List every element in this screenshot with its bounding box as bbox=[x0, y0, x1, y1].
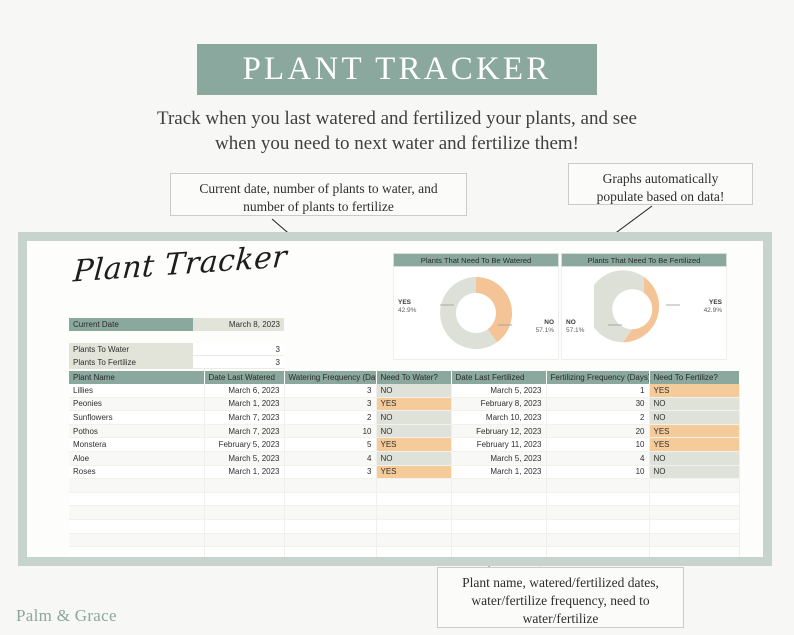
subtitle-line-1: Track when you last watered and fertiliz… bbox=[117, 106, 677, 131]
cell-need-to-fertilize[interactable]: NO bbox=[649, 411, 739, 425]
cell-empty[interactable] bbox=[69, 479, 204, 493]
cell-empty[interactable] bbox=[204, 479, 284, 493]
cell-date-last-watered[interactable]: March 1, 2023 bbox=[204, 397, 284, 411]
cell-watering-frequency[interactable]: 5 bbox=[284, 438, 376, 452]
cell-need-to-water[interactable]: NO bbox=[376, 411, 451, 425]
cell-empty[interactable] bbox=[451, 506, 546, 520]
cell-watering-frequency[interactable]: 3 bbox=[284, 384, 376, 397]
brand-logo: Palm & Grace bbox=[16, 606, 117, 626]
table-row-empty[interactable] bbox=[69, 547, 739, 557]
cell-date-last-fertilized[interactable]: March 1, 2023 bbox=[451, 465, 546, 479]
chart-body: YES42.9% NO57.1% bbox=[561, 267, 727, 360]
spreadsheet-frame: Plant Tracker Current Date March 8, 2023… bbox=[18, 232, 772, 566]
cell-empty[interactable] bbox=[284, 492, 376, 506]
chart-label-yes: YES42.9% bbox=[704, 299, 722, 315]
cell-date-last-fertilized[interactable]: February 12, 2023 bbox=[451, 424, 546, 438]
cell-empty[interactable] bbox=[204, 519, 284, 533]
summary-label: Plants To Water bbox=[69, 343, 193, 356]
cell-need-to-fertilize[interactable]: NO bbox=[649, 451, 739, 465]
cell-empty[interactable] bbox=[376, 519, 451, 533]
cell-fertilizing-frequency[interactable]: 30 bbox=[546, 397, 649, 411]
cell-empty[interactable] bbox=[376, 533, 451, 547]
chart-title: Plants That Need To Be Fertilized bbox=[561, 253, 727, 267]
cell-plant-name[interactable]: Lillies bbox=[69, 384, 204, 397]
summary-row-current-date[interactable]: Current Date March 8, 2023 bbox=[69, 318, 284, 331]
summary-row-plants-to-water[interactable]: Plants To Water 3 bbox=[69, 343, 284, 356]
column-header-date-last-watered[interactable]: Date Last Watered bbox=[204, 371, 284, 384]
cell-empty[interactable] bbox=[284, 533, 376, 547]
cell-need-to-water[interactable]: NO bbox=[376, 451, 451, 465]
cell-date-last-watered[interactable]: March 7, 2023 bbox=[204, 411, 284, 425]
cell-watering-frequency[interactable]: 3 bbox=[284, 465, 376, 479]
cell-need-to-fertilize[interactable]: NO bbox=[649, 465, 739, 479]
cell-empty[interactable] bbox=[546, 479, 649, 493]
column-header-date-last-fertilized[interactable]: Date Last Fertilized bbox=[451, 371, 546, 384]
cell-empty[interactable] bbox=[204, 547, 284, 557]
cell-need-to-fertilize[interactable]: YES bbox=[649, 384, 739, 397]
cell-empty[interactable] bbox=[546, 519, 649, 533]
cell-empty[interactable] bbox=[69, 492, 204, 506]
table-header-row: Plant Name Date Last Watered Watering Fr… bbox=[69, 371, 739, 384]
cell-empty[interactable] bbox=[376, 479, 451, 493]
column-header-fertilizing-frequency[interactable]: Fertilizing Frequency (Days) bbox=[546, 371, 649, 384]
cell-plant-name[interactable]: Pothos bbox=[69, 424, 204, 438]
cell-fertilizing-frequency[interactable]: 10 bbox=[546, 465, 649, 479]
cell-empty[interactable] bbox=[546, 533, 649, 547]
cell-fertilizing-frequency[interactable]: 10 bbox=[546, 438, 649, 452]
charts-row: Plants That Need To Be Watered YES bbox=[393, 253, 727, 360]
table-row[interactable]: MonsteraFebruary 5, 20235YESFebruary 11,… bbox=[69, 438, 739, 452]
cell-plant-name[interactable]: Aloe bbox=[69, 451, 204, 465]
cell-empty[interactable] bbox=[204, 506, 284, 520]
cell-empty[interactable] bbox=[451, 479, 546, 493]
table-row[interactable]: PeoniesMarch 1, 20233YESFebruary 8, 2023… bbox=[69, 397, 739, 411]
cell-empty[interactable] bbox=[69, 547, 204, 557]
subtitle-line-2: when you need to next water and fertiliz… bbox=[117, 131, 677, 156]
column-header-plant-name[interactable]: Plant Name bbox=[69, 371, 204, 384]
summary-value: March 8, 2023 bbox=[193, 318, 284, 331]
table-row-empty[interactable] bbox=[69, 506, 739, 520]
donut-chart-fertilized bbox=[594, 267, 694, 359]
cell-empty[interactable] bbox=[546, 506, 649, 520]
cell-empty[interactable] bbox=[451, 547, 546, 557]
summary-row-plants-to-fertilize[interactable]: Plants To Fertilize 3 bbox=[69, 356, 284, 369]
table-row[interactable]: PothosMarch 7, 202310NOFebruary 12, 2023… bbox=[69, 424, 739, 438]
column-header-need-to-water[interactable]: Need To Water? bbox=[376, 371, 451, 384]
cell-empty[interactable] bbox=[204, 492, 284, 506]
cell-empty[interactable] bbox=[284, 519, 376, 533]
cell-empty[interactable] bbox=[69, 519, 204, 533]
cell-need-to-water[interactable]: YES bbox=[376, 465, 451, 479]
cell-empty[interactable] bbox=[204, 533, 284, 547]
cell-watering-frequency[interactable]: 10 bbox=[284, 424, 376, 438]
spreadsheet-canvas[interactable]: Plant Tracker Current Date March 8, 2023… bbox=[27, 241, 763, 557]
cell-empty[interactable] bbox=[69, 506, 204, 520]
cell-empty[interactable] bbox=[451, 533, 546, 547]
cell-date-last-watered[interactable]: March 1, 2023 bbox=[204, 465, 284, 479]
cell-need-to-water[interactable]: NO bbox=[376, 384, 451, 397]
cell-plant-name[interactable]: Sunflowers bbox=[69, 411, 204, 425]
table-row[interactable]: RosesMarch 1, 20233YESMarch 1, 202310NO bbox=[69, 465, 739, 479]
cell-watering-frequency[interactable]: 4 bbox=[284, 451, 376, 465]
callout-summary-annotation: Current date, number of plants to water,… bbox=[170, 173, 467, 216]
summary-label: Plants To Fertilize bbox=[69, 356, 193, 369]
cell-need-to-fertilize[interactable]: YES bbox=[649, 424, 739, 438]
cell-plant-name[interactable]: Peonies bbox=[69, 397, 204, 411]
cell-empty[interactable] bbox=[649, 519, 739, 533]
cell-empty[interactable] bbox=[649, 547, 739, 557]
sheet-script-title: Plant Tracker bbox=[72, 241, 288, 290]
cell-need-to-water[interactable]: NO bbox=[376, 424, 451, 438]
chart-label-no: NO57.1% bbox=[566, 319, 584, 335]
cell-empty[interactable] bbox=[451, 519, 546, 533]
cell-date-last-watered[interactable]: March 7, 2023 bbox=[204, 424, 284, 438]
cell-fertilizing-frequency[interactable]: 4 bbox=[546, 451, 649, 465]
plant-data-table[interactable]: Plant Name Date Last Watered Watering Fr… bbox=[69, 371, 740, 557]
table-row-empty[interactable] bbox=[69, 533, 739, 547]
cell-need-to-fertilize[interactable]: YES bbox=[649, 438, 739, 452]
cell-date-last-fertilized[interactable]: March 10, 2023 bbox=[451, 411, 546, 425]
summary-value: 3 bbox=[193, 343, 284, 356]
cell-empty[interactable] bbox=[376, 547, 451, 557]
cell-plant-name[interactable]: Monstera bbox=[69, 438, 204, 452]
summary-value: 3 bbox=[193, 356, 284, 369]
table-row[interactable]: AloeMarch 5, 20234NOMarch 5, 20234NO bbox=[69, 451, 739, 465]
cell-watering-frequency[interactable]: 2 bbox=[284, 411, 376, 425]
cell-date-last-fertilized[interactable]: March 5, 2023 bbox=[451, 451, 546, 465]
chart-panel-fertilized: Plants That Need To Be Fertilized bbox=[561, 253, 727, 360]
cell-need-to-fertilize[interactable]: NO bbox=[649, 397, 739, 411]
cell-empty[interactable] bbox=[546, 492, 649, 506]
column-header-watering-frequency[interactable]: Watering Frequency (Days) bbox=[284, 371, 376, 384]
chart-body: YES42.9% NO57.1% bbox=[393, 267, 559, 360]
cell-need-to-water[interactable]: YES bbox=[376, 438, 451, 452]
table-row-empty[interactable] bbox=[69, 492, 739, 506]
cell-fertilizing-frequency[interactable]: 2 bbox=[546, 411, 649, 425]
callout-graphs-annotation: Graphs automatically populate based on d… bbox=[568, 163, 753, 205]
cell-empty[interactable] bbox=[546, 547, 649, 557]
table-row[interactable]: SunflowersMarch 7, 20232NOMarch 10, 2023… bbox=[69, 411, 739, 425]
table-row-empty[interactable] bbox=[69, 519, 739, 533]
table-row[interactable]: LilliesMarch 6, 20233NOMarch 5, 20231YES bbox=[69, 384, 739, 397]
cell-empty[interactable] bbox=[376, 506, 451, 520]
table-row-empty[interactable] bbox=[69, 479, 739, 493]
chart-panel-watered: Plants That Need To Be Watered YES bbox=[393, 253, 559, 360]
table-body: LilliesMarch 6, 20233NOMarch 5, 20231YES… bbox=[69, 384, 739, 557]
chart-label-no: NO57.1% bbox=[536, 319, 554, 335]
cell-need-to-water[interactable]: YES bbox=[376, 397, 451, 411]
chart-title: Plants That Need To Be Watered bbox=[393, 253, 559, 267]
cell-date-last-fertilized[interactable]: February 8, 2023 bbox=[451, 397, 546, 411]
cell-date-last-fertilized[interactable]: March 5, 2023 bbox=[451, 384, 546, 397]
summary-block: Current Date March 8, 2023 Plants To Wat… bbox=[69, 318, 284, 369]
title-banner: PLANT TRACKER bbox=[197, 44, 597, 95]
cell-fertilizing-frequency[interactable]: 20 bbox=[546, 424, 649, 438]
cell-empty[interactable] bbox=[649, 533, 739, 547]
cell-date-last-fertilized[interactable]: February 11, 2023 bbox=[451, 438, 546, 452]
chart-label-yes: YES42.9% bbox=[398, 299, 416, 315]
cell-empty[interactable] bbox=[451, 492, 546, 506]
page-subtitle: Track when you last watered and fertiliz… bbox=[117, 106, 677, 156]
cell-plant-name[interactable]: Roses bbox=[69, 465, 204, 479]
cell-empty[interactable] bbox=[284, 547, 376, 557]
column-header-need-to-fertilize[interactable]: Need To Fertilize? bbox=[649, 371, 739, 384]
callout-table-annotation: Plant name, watered/fertilized dates, wa… bbox=[437, 567, 684, 628]
cell-watering-frequency[interactable]: 3 bbox=[284, 397, 376, 411]
cell-empty[interactable] bbox=[376, 492, 451, 506]
cell-date-last-watered[interactable]: February 5, 2023 bbox=[204, 438, 284, 452]
cell-date-last-watered[interactable]: March 6, 2023 bbox=[204, 384, 284, 397]
cell-empty[interactable] bbox=[284, 479, 376, 493]
cell-date-last-watered[interactable]: March 5, 2023 bbox=[204, 451, 284, 465]
donut-chart-watered bbox=[426, 267, 526, 359]
summary-label: Current Date bbox=[69, 318, 193, 331]
cell-empty[interactable] bbox=[69, 533, 204, 547]
cell-empty[interactable] bbox=[649, 479, 739, 493]
page-title: PLANT TRACKER bbox=[243, 51, 552, 88]
cell-empty[interactable] bbox=[284, 506, 376, 520]
cell-empty[interactable] bbox=[649, 492, 739, 506]
cell-fertilizing-frequency[interactable]: 1 bbox=[546, 384, 649, 397]
cell-empty[interactable] bbox=[649, 506, 739, 520]
